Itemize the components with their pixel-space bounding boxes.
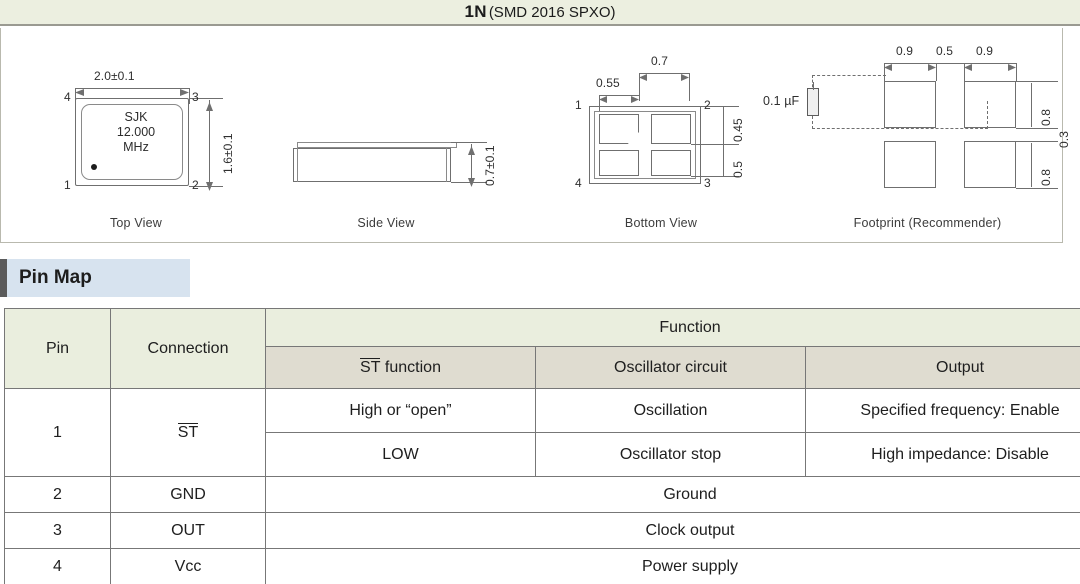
st-overline-text: ST xyxy=(178,423,198,441)
bottom-view-dim-c: 0.45 xyxy=(731,118,745,142)
decoupling-trace-lower xyxy=(812,101,988,129)
dim-arrow-up xyxy=(467,142,476,160)
table-row: 2 GND Ground xyxy=(5,477,1080,513)
cell-pin: 4 xyxy=(5,549,111,584)
bottom-view-caption: Bottom View xyxy=(541,216,781,230)
dimension-drawings-panel: 2.0±0.1 SJK 12.000 MHz 1.6±0.1 xyxy=(0,28,1063,243)
dim-arrow-right xyxy=(928,59,936,77)
footprint-cap-label: 0.1 µF xyxy=(763,94,799,108)
side-view-electrode-left xyxy=(293,148,298,182)
header-function: Function xyxy=(266,309,1080,347)
dim-arrow-down xyxy=(467,174,476,192)
bottom-view-drawing: 0.7 0.55 0.45 xyxy=(541,38,781,238)
table-row: 1 ST High or “open” Oscillation Specifie… xyxy=(5,389,1080,433)
dim-arrow-right xyxy=(1008,59,1016,77)
dim-arrow-down xyxy=(205,178,214,196)
cell-pin: 1 xyxy=(5,389,111,477)
footprint-dim-left: 0.9 xyxy=(896,44,913,58)
bottom-view-pad-4 xyxy=(599,150,639,176)
dim-arrow-right xyxy=(681,69,689,87)
cell-connection: OUT xyxy=(111,513,266,549)
dim-arrow-up xyxy=(205,98,214,116)
cell-oscillator-circuit: Oscillator stop xyxy=(536,433,806,477)
header-pin: Pin xyxy=(5,309,111,389)
subheader-oscillator-circuit: Oscillator circuit xyxy=(536,347,806,389)
table-row: 3 OUT Clock output xyxy=(5,513,1080,549)
top-view-caption: Top View xyxy=(31,216,241,230)
decoupling-trace-upper xyxy=(812,75,886,101)
bottom-view-dim-a: 0.55 xyxy=(596,76,620,90)
bottom-view-pin-1: 1 xyxy=(575,98,582,112)
bottom-view-dim-b: 0.7 xyxy=(651,54,668,68)
product-title-main: 1N xyxy=(464,2,486,22)
footprint-dim-mid: 0.3 xyxy=(1057,131,1071,148)
cell-st-state: LOW xyxy=(266,433,536,477)
bottom-view-dim-d: 0.5 xyxy=(731,161,745,178)
top-view-pin-3: 3 xyxy=(192,90,199,104)
footprint-dim-right: 0.9 xyxy=(976,44,993,58)
cell-oscillator-circuit: Oscillation xyxy=(536,389,806,433)
bottom-view-pad-2 xyxy=(651,114,691,144)
side-view-height-dim: 0.7±0.1 xyxy=(483,145,497,186)
footprint-dim-gap: 0.5 xyxy=(936,44,953,58)
top-view-width-dim: 2.0±0.1 xyxy=(94,69,135,83)
subheader-output: Output xyxy=(806,347,1080,389)
cell-function: Ground xyxy=(266,477,1080,513)
cell-connection: GND xyxy=(111,477,266,513)
dim-arrow-left xyxy=(964,59,972,77)
product-title-band: 1N (SMD 2016 SPXO) xyxy=(0,0,1080,26)
footprint-pad-bottom-left xyxy=(884,141,936,188)
section-accent-bar xyxy=(0,259,7,297)
pin-map-section-heading: Pin Map xyxy=(0,259,190,297)
datasheet-page: 1N (SMD 2016 SPXO) 2.0±0.1 SJK xyxy=(0,0,1080,584)
header-connection: Connection xyxy=(111,309,266,389)
footprint-dim-pad-bottom: 0.8 xyxy=(1039,169,1053,186)
table-row: 4 Vcc Power supply xyxy=(5,549,1080,584)
bottom-view-pin-4: 4 xyxy=(575,176,582,190)
top-view-pin-4: 4 xyxy=(64,90,71,104)
cell-st-state: High or “open” xyxy=(266,389,536,433)
pin1-marker-dot xyxy=(91,164,97,170)
st-function-rest: function xyxy=(380,359,440,376)
side-view-drawing: 0.7±0.1 Side View xyxy=(271,38,501,238)
st-overline-text: ST xyxy=(360,358,380,376)
bottom-view-pad-3 xyxy=(651,150,691,176)
pin-map-table: Pin Connection Function ST function Osci… xyxy=(4,308,1080,584)
top-view-height-dim: 1.6±0.1 xyxy=(221,133,235,174)
cell-output: Specified frequency: Enable xyxy=(806,389,1080,433)
section-title: Pin Map xyxy=(7,267,92,289)
cell-connection: Vcc xyxy=(111,549,266,584)
cell-pin: 3 xyxy=(5,513,111,549)
footprint-dim-pad-top: 0.8 xyxy=(1039,109,1053,126)
table-header-row: Pin Connection Function xyxy=(5,309,1080,347)
capacitor-symbol xyxy=(807,88,819,116)
bottom-view-pin-2: 2 xyxy=(704,98,711,112)
cell-function: Clock output xyxy=(266,513,1080,549)
top-view-pin-2: 2 xyxy=(192,178,199,192)
footprint-pad-bottom-right xyxy=(964,141,1016,188)
cell-function: Power supply xyxy=(266,549,1080,584)
footprint-drawing: 0.9 0.5 0.9 xyxy=(791,38,1064,238)
subheader-st-function: ST function xyxy=(266,347,536,389)
cell-connection: ST xyxy=(111,389,266,477)
cell-output: High impedance: Disable xyxy=(806,433,1080,477)
side-view-caption: Side View xyxy=(271,216,501,230)
bottom-view-pin-3: 3 xyxy=(704,176,711,190)
dim-arrow-left xyxy=(639,69,647,87)
side-view-body xyxy=(293,148,451,182)
side-view-electrode-right xyxy=(446,148,451,182)
footprint-caption: Footprint (Recommender) xyxy=(791,216,1064,230)
top-view-drawing: 2.0±0.1 SJK 12.000 MHz 1.6±0.1 xyxy=(31,38,241,238)
top-view-pin-1: 1 xyxy=(64,178,71,192)
product-title-sub: (SMD 2016 SPXO) xyxy=(489,4,616,21)
cell-pin: 2 xyxy=(5,477,111,513)
